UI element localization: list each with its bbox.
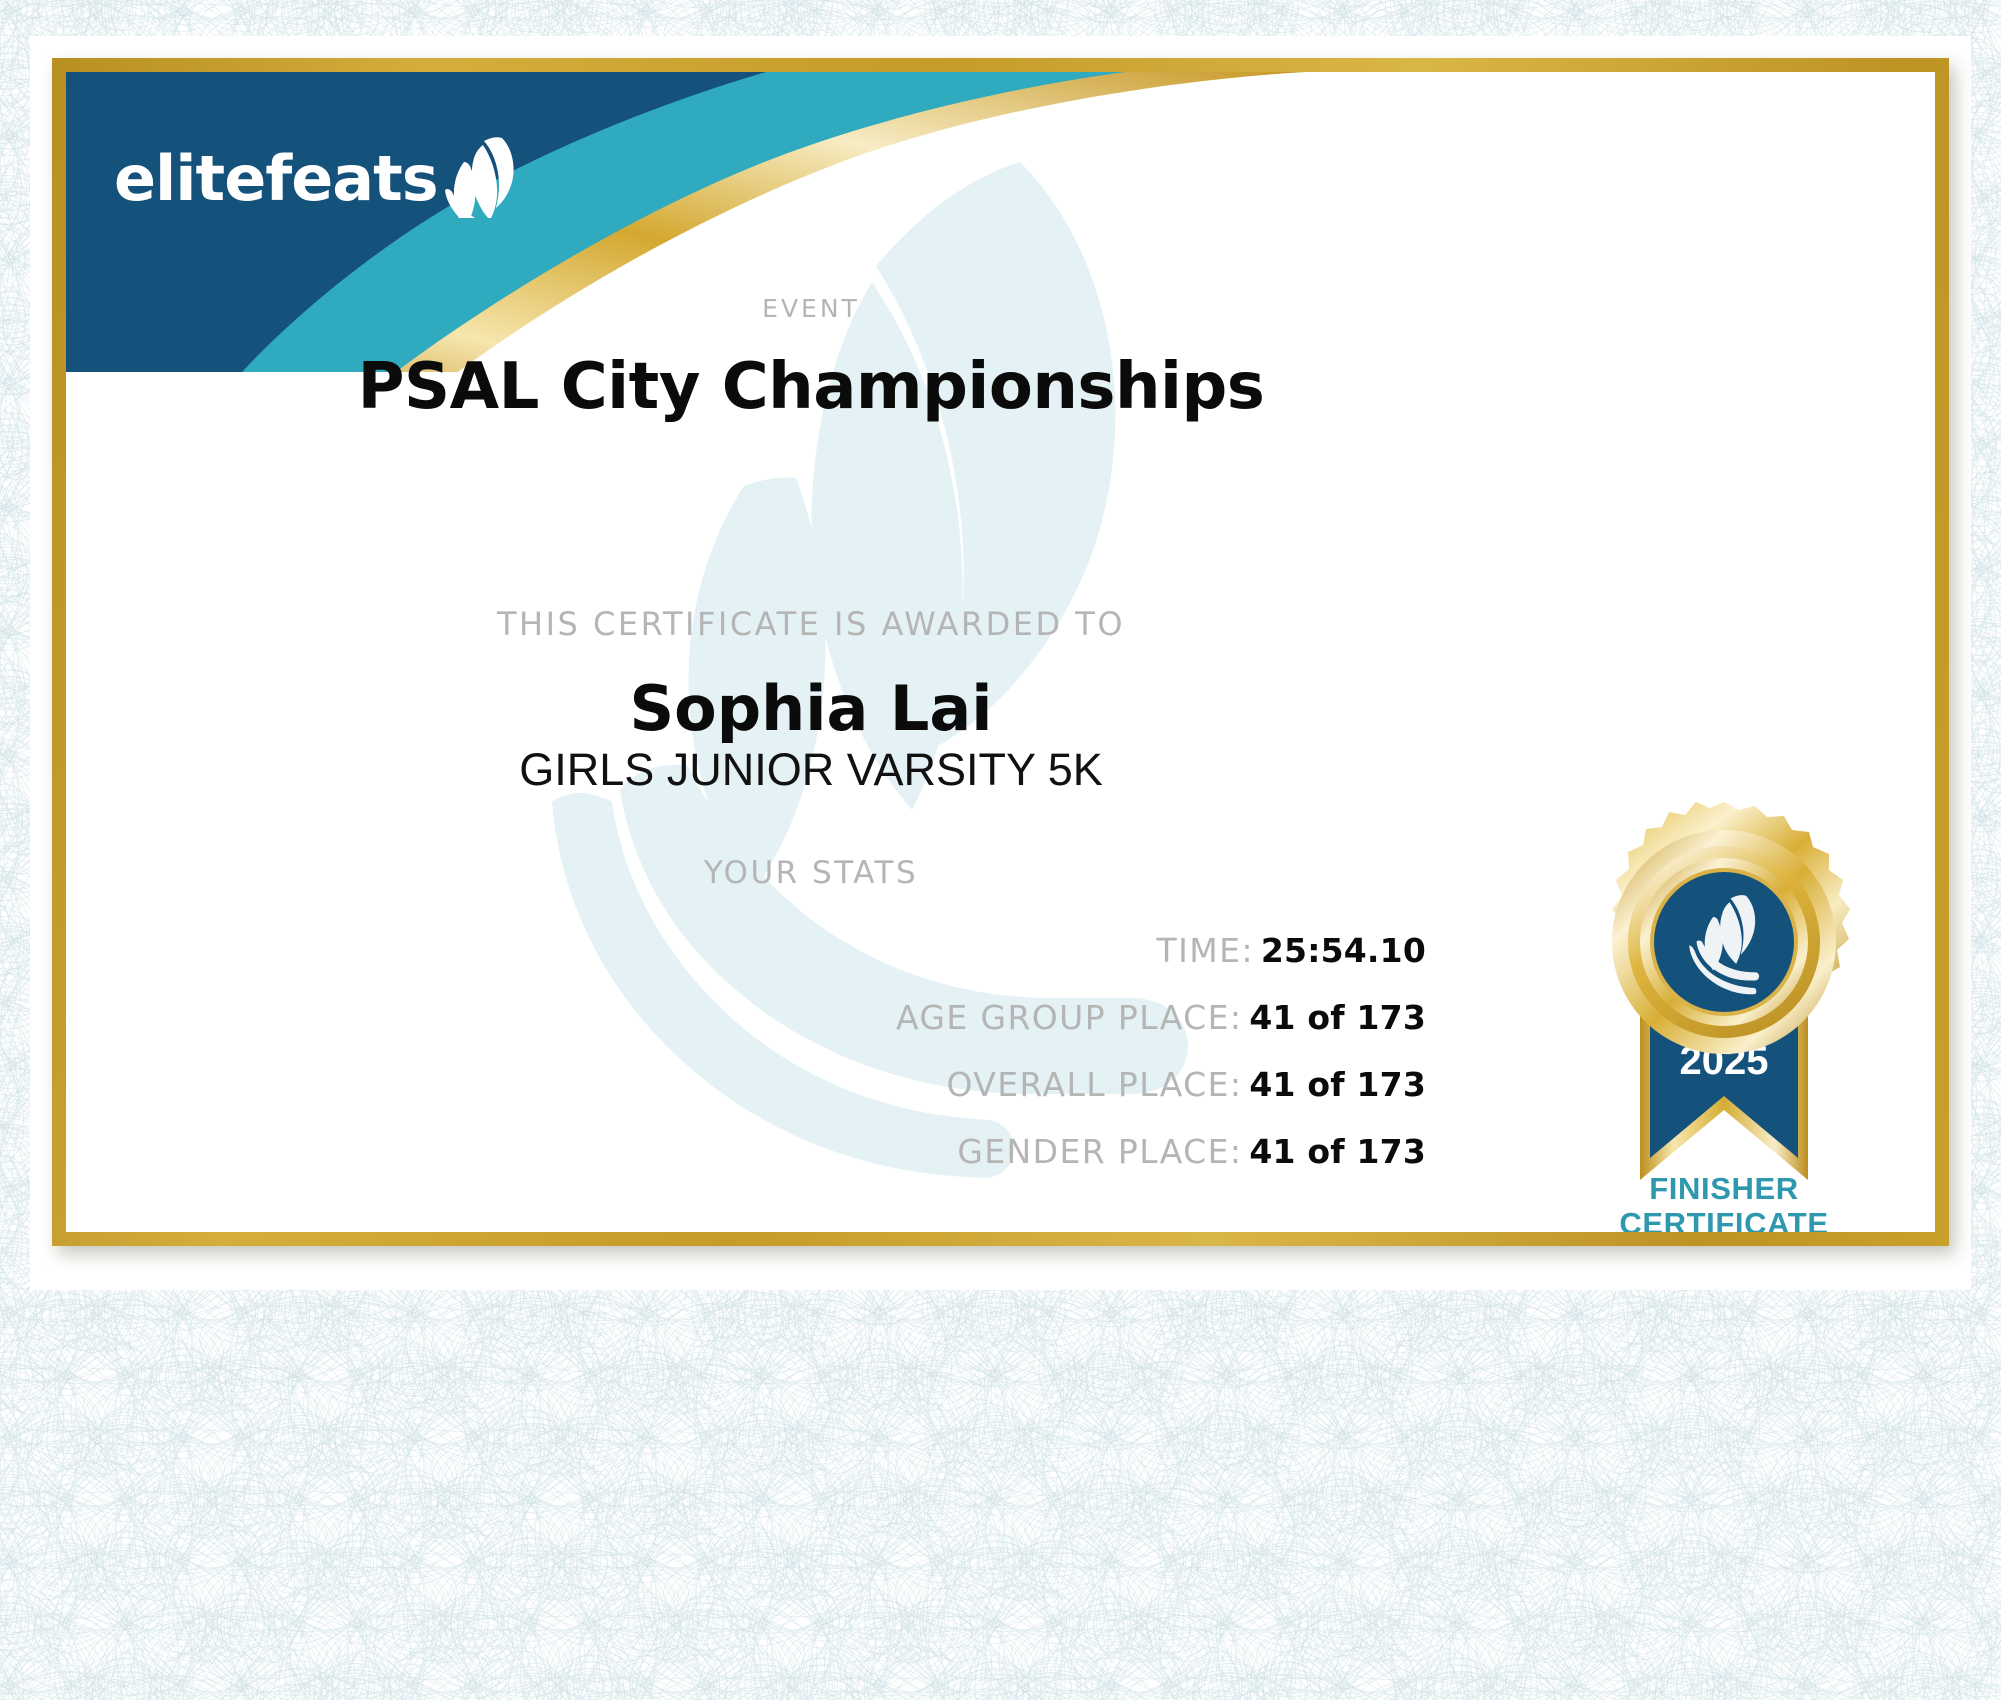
event-label: EVENT xyxy=(66,294,1556,323)
stat-key: AGE GROUP PLACE: xyxy=(896,998,1242,1037)
elitefeats-logo: elitefeats xyxy=(114,136,520,210)
recipient-name: Sophia Lai xyxy=(66,672,1556,745)
stat-row-gender-place: GENDER PLACE:41 of 173 xyxy=(66,1135,1426,1168)
awarded-to-label: THIS CERTIFICATE IS AWARDED TO xyxy=(66,605,1556,643)
stat-value: 41 of 173 xyxy=(1249,998,1426,1037)
certificate-card: elitefeats EVENT PSAL City Championships… xyxy=(66,72,1935,1232)
stat-value: 41 of 173 xyxy=(1249,1132,1426,1171)
stat-row-time: TIME:25:54.10 xyxy=(66,934,1426,967)
stat-key: GENDER PLACE: xyxy=(957,1132,1242,1171)
medal-caption: FINISHER CERTIFICATE xyxy=(1544,1172,1904,1232)
stat-value: 41 of 173 xyxy=(1249,1065,1426,1104)
stats-list: TIME:25:54.10 AGE GROUP PLACE:41 of 173 … xyxy=(66,934,1426,1202)
event-title: PSAL City Championships xyxy=(66,350,1556,424)
your-stats-label: YOUR STATS xyxy=(66,855,1556,891)
certificate-content: EVENT PSAL City Championships THIS CERTI… xyxy=(66,72,1935,1232)
certificate-gold-frame: elitefeats EVENT PSAL City Championships… xyxy=(52,58,1949,1246)
brand-wordmark: elitefeats xyxy=(114,148,438,210)
race-division: GIRLS JUNIOR VARSITY 5K xyxy=(66,744,1556,796)
medal-caption-line2: CERTIFICATE xyxy=(1544,1207,1904,1232)
stat-key: OVERALL PLACE: xyxy=(946,1065,1242,1104)
stat-key: TIME: xyxy=(1157,931,1254,970)
medal-caption-line1: FINISHER xyxy=(1544,1172,1904,1207)
finisher-medal-seal: 2025 xyxy=(1544,802,1904,1232)
stat-row-age-group-place: AGE GROUP PLACE:41 of 173 xyxy=(66,1001,1426,1034)
stat-row-overall-place: OVERALL PLACE:41 of 173 xyxy=(66,1068,1426,1101)
stat-value: 25:54.10 xyxy=(1261,931,1426,970)
medal-starburst xyxy=(1612,802,1850,1054)
winged-foot-icon xyxy=(442,136,520,218)
